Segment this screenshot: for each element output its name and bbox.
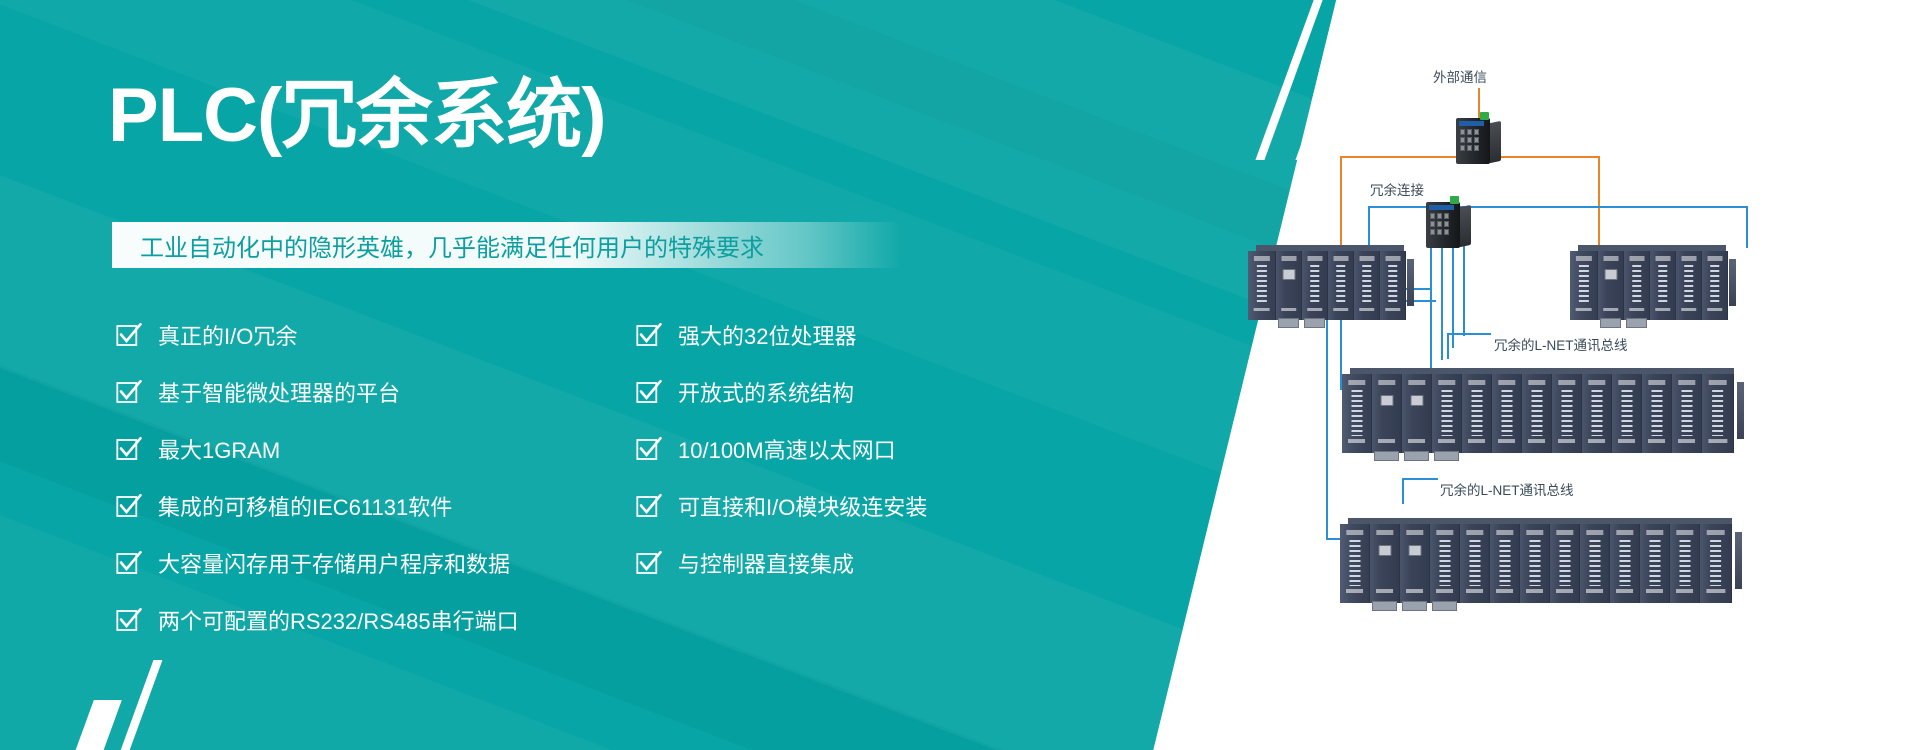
- module-logo: [1436, 530, 1453, 536]
- module-led-strip: [1591, 390, 1602, 436]
- checked-checkbox-icon: [636, 322, 662, 348]
- module-logo: [1281, 256, 1296, 261]
- module-led-strip: [1362, 265, 1372, 305]
- wire-external-left-down: [1340, 156, 1342, 256]
- module-led-strip: [1349, 540, 1360, 586]
- list-item-label: 两个可配置的RS232/RS485串行端口: [158, 604, 519, 636]
- list-item-label: 真正的I/O冗余: [158, 319, 297, 351]
- switch-port: [1467, 145, 1472, 151]
- list-item: 与控制器直接集成: [636, 540, 1136, 586]
- module-led-strip: [1621, 390, 1632, 436]
- plc-module-io: [1462, 374, 1492, 453]
- switch-port: [1467, 129, 1472, 135]
- module-label: [1681, 308, 1697, 311]
- module-logo: [1616, 530, 1633, 536]
- plc-module-io: [1522, 374, 1552, 453]
- switch-power-terminal: [1450, 196, 1459, 204]
- module-connector: [1372, 601, 1396, 611]
- wire-label-elbow-2h: [1402, 478, 1438, 480]
- subtitle-banner: 工业自动化中的隐形英雄，几乎能满足任何用户的特殊要求: [112, 222, 902, 268]
- module-rj45-port: [1282, 269, 1295, 280]
- module-logo: [1307, 256, 1322, 261]
- plc-module-cpu: [1400, 524, 1430, 603]
- checked-checkbox-icon: [636, 379, 662, 405]
- module-label: [1646, 589, 1664, 593]
- checked-checkbox-icon: [636, 493, 662, 519]
- module-logo: [1468, 380, 1485, 386]
- module-label: [1706, 589, 1725, 593]
- module-label: [1655, 308, 1671, 311]
- module-logo: [1681, 256, 1696, 261]
- module-logo: [1498, 380, 1515, 386]
- module-label: [1378, 439, 1396, 443]
- module-led-strip: [1388, 265, 1398, 305]
- module-logo: [1348, 380, 1365, 386]
- module-label: [1676, 589, 1694, 593]
- list-item-label: 集成的可移植的IEC61131软件: [158, 490, 452, 522]
- module-label: [1556, 589, 1574, 593]
- module-label: [1498, 439, 1516, 443]
- module-connector: [1600, 318, 1621, 328]
- plc-module-psu: [1248, 251, 1276, 320]
- plc-module-io: [1642, 374, 1672, 453]
- plc-module-io: [1676, 251, 1702, 320]
- list-item-label: 强大的32位处理器: [678, 319, 856, 351]
- module-label: [1586, 589, 1604, 593]
- plc-module-io: [1302, 251, 1328, 320]
- rack-end-cap: [1407, 259, 1414, 306]
- module-led-strip: [1441, 390, 1452, 436]
- module-label: [1678, 439, 1696, 443]
- wire-lnet-long-down: [1326, 300, 1328, 540]
- feature-column-left: 真正的I/O冗余 基于智能微处理器的平台 最大1GRAM 集成的可移植的IEC6…: [116, 312, 636, 654]
- list-item-label: 大容量闪存用于存储用户程序和数据: [158, 547, 510, 579]
- module-label: [1406, 589, 1424, 593]
- module-led-strip: [1351, 390, 1362, 436]
- rack-end-cap: [1735, 532, 1742, 589]
- module-connector: [1626, 318, 1647, 328]
- ethernet-switch-top: [1456, 112, 1502, 164]
- list-item: 强大的32位处理器: [636, 312, 1136, 358]
- plc-module-cpu: [1402, 374, 1432, 453]
- module-logo: [1346, 530, 1363, 536]
- rack-end-cap: [1729, 259, 1736, 306]
- plc-module-io: [1702, 251, 1728, 320]
- diagram-label-lnet-bus-2: 冗余的L-NET通讯总线: [1440, 479, 1574, 499]
- plc-module-io: [1492, 374, 1522, 453]
- switch-port: [1437, 221, 1442, 227]
- module-led-strip: [1529, 540, 1540, 586]
- module-label: [1436, 589, 1454, 593]
- module-logo: [1378, 380, 1395, 386]
- switch-port: [1430, 213, 1435, 219]
- module-logo: [1359, 256, 1374, 261]
- switch-port: [1460, 137, 1465, 143]
- module-led-strip: [1679, 540, 1690, 586]
- module-led-strip: [1578, 265, 1588, 305]
- wire-label-elbow-1v: [1447, 333, 1449, 359]
- module-led-strip: [1658, 265, 1668, 305]
- switch-display: [1459, 121, 1484, 126]
- module-logo: [1708, 380, 1727, 386]
- plc-rack-io-middle: [1342, 368, 1738, 453]
- module-label: [1333, 308, 1349, 311]
- list-item: 集成的可移植的IEC61131软件: [116, 483, 636, 529]
- module-led-strip: [1589, 540, 1600, 586]
- module-label: [1348, 439, 1366, 443]
- module-connector: [1434, 451, 1458, 461]
- module-label: [1618, 439, 1636, 443]
- module-logo: [1603, 256, 1618, 261]
- diagram-label-lnet-bus-1: 冗余的L-NET通讯总线: [1494, 334, 1628, 354]
- module-label: [1629, 308, 1645, 311]
- module-label: [1708, 439, 1727, 443]
- list-item-label: 基于智能微处理器的平台: [158, 376, 400, 408]
- module-label: [1496, 589, 1514, 593]
- module-label: [1575, 308, 1592, 311]
- module-connector: [1278, 318, 1299, 328]
- plc-module-cpu: [1276, 251, 1302, 320]
- list-item-label: 开放式的系统结构: [678, 376, 854, 408]
- module-label: [1707, 308, 1723, 311]
- switch-port: [1430, 221, 1435, 227]
- switch-port: [1460, 145, 1465, 151]
- module-label: [1648, 439, 1666, 443]
- plc-rack-secondary: [1570, 245, 1730, 320]
- module-label: [1385, 308, 1401, 311]
- diagram-label-redundant-link: 冗余连接: [1370, 179, 1424, 199]
- module-logo: [1438, 380, 1455, 386]
- wire-redundant-right: [1746, 206, 1748, 248]
- module-logo: [1253, 256, 1269, 261]
- switch-display: [1429, 205, 1454, 210]
- switch-port: [1444, 213, 1449, 219]
- hero-text-column: PLC(冗余系统) 工业自动化中的隐形英雄，几乎能满足任何用户的特殊要求 真正的…: [0, 0, 1180, 750]
- wire-lnet-drop-3: [1452, 240, 1454, 348]
- module-led-strip: [1439, 540, 1450, 586]
- feature-column-right: 强大的32位处理器 开放式的系统结构 10/100M高速以太网口 可直接和I/O…: [636, 312, 1136, 597]
- switch-port: [1467, 137, 1472, 143]
- switch-port: [1474, 145, 1479, 151]
- list-item: 最大1GRAM: [116, 426, 636, 472]
- list-item: 开放式的系统结构: [636, 369, 1136, 415]
- list-item-label: 10/100M高速以太网口: [678, 433, 896, 465]
- plc-module-io: [1610, 524, 1640, 603]
- module-logo: [1588, 380, 1605, 386]
- plc-module-io: [1432, 374, 1462, 453]
- switch-side: [1490, 121, 1501, 163]
- switch-port: [1430, 229, 1435, 235]
- plc-module-io: [1460, 524, 1490, 603]
- wire-lnet-drop-1: [1430, 240, 1432, 380]
- plc-module-psu: [1342, 374, 1372, 453]
- wire-lnet-drop-2: [1441, 240, 1443, 360]
- switch-port: [1437, 213, 1442, 219]
- module-label: [1558, 439, 1576, 443]
- module-label: [1528, 439, 1546, 443]
- plc-module-io: [1640, 524, 1670, 603]
- module-connector: [1304, 318, 1325, 328]
- switch-port-grid: [1430, 213, 1454, 237]
- module-logo: [1707, 256, 1722, 261]
- wire-external-right-down: [1598, 156, 1600, 246]
- module-label: [1307, 308, 1323, 311]
- module-label: [1438, 439, 1456, 443]
- module-led-strip: [1336, 265, 1346, 305]
- plc-module-io: [1520, 524, 1550, 603]
- plc-module-io: [1700, 524, 1732, 603]
- rack-end-cap: [1737, 382, 1744, 439]
- plc-module-io: [1550, 524, 1580, 603]
- page-title: PLC(冗余系统): [108, 78, 606, 154]
- module-led-strip: [1681, 390, 1692, 436]
- module-logo: [1376, 530, 1393, 536]
- ethernet-switch-middle: [1426, 196, 1472, 248]
- module-connector: [1402, 601, 1426, 611]
- module-connector: [1432, 601, 1456, 611]
- plc-module-io: [1354, 251, 1380, 320]
- module-logo: [1385, 256, 1400, 261]
- wire-label-elbow-2v: [1402, 478, 1404, 504]
- plc-module-psu: [1570, 251, 1598, 320]
- wire-label-elbow-1h: [1447, 333, 1491, 335]
- switch-port: [1474, 129, 1479, 135]
- list-item: 10/100M高速以太网口: [636, 426, 1136, 472]
- switch-port: [1474, 137, 1479, 143]
- checked-checkbox-icon: [116, 493, 142, 519]
- switch-port: [1444, 229, 1449, 235]
- plc-redundancy-diagram: 外部通信 冗余连接 冗余的L-NET通讯总线 冗余的L-NET通讯总线: [1100, 0, 1920, 750]
- module-connector: [1374, 451, 1398, 461]
- module-led-strip: [1531, 390, 1542, 436]
- module-logo: [1706, 530, 1725, 536]
- module-logo: [1496, 530, 1513, 536]
- module-led-strip: [1619, 540, 1630, 586]
- switch-side: [1460, 205, 1471, 247]
- plc-module-io: [1650, 251, 1676, 320]
- plc-module-io: [1612, 374, 1642, 453]
- plc-module-io: [1672, 374, 1702, 453]
- list-item-label: 最大1GRAM: [158, 433, 280, 465]
- module-rj45-port: [1378, 545, 1391, 556]
- module-logo: [1676, 530, 1693, 536]
- module-rj45-port: [1380, 395, 1393, 406]
- module-label: [1376, 589, 1394, 593]
- module-logo: [1406, 530, 1423, 536]
- list-item: 基于智能微处理器的平台: [116, 369, 636, 415]
- module-led-strip: [1651, 390, 1662, 436]
- list-item: 两个可配置的RS232/RS485串行端口: [116, 597, 636, 643]
- module-label: [1281, 308, 1297, 311]
- module-logo: [1646, 530, 1663, 536]
- list-item: 大容量闪存用于存储用户程序和数据: [116, 540, 636, 586]
- list-item: 可直接和I/O模块级连安装: [636, 483, 1136, 529]
- plc-module-io: [1328, 251, 1354, 320]
- module-logo: [1655, 256, 1670, 261]
- module-rj45-port: [1410, 395, 1423, 406]
- plc-rack-io-bottom: [1340, 518, 1736, 603]
- module-led-strip: [1256, 265, 1266, 305]
- checked-checkbox-icon: [636, 436, 662, 462]
- module-label: [1359, 308, 1375, 311]
- checked-checkbox-icon: [116, 607, 142, 633]
- checked-checkbox-icon: [116, 550, 142, 576]
- module-logo: [1648, 380, 1665, 386]
- plc-module-io: [1624, 251, 1650, 320]
- list-item-label: 与控制器直接集成: [678, 547, 854, 579]
- module-led-strip: [1471, 390, 1482, 436]
- module-led-strip: [1710, 540, 1722, 586]
- module-led-strip: [1499, 540, 1510, 586]
- wire-lnet-drop-4: [1463, 240, 1465, 336]
- checked-checkbox-icon: [116, 436, 142, 462]
- switch-port-grid: [1460, 129, 1484, 153]
- module-led-strip: [1559, 540, 1570, 586]
- checked-checkbox-icon: [636, 550, 662, 576]
- list-item: 真正的I/O冗余: [116, 312, 636, 358]
- module-led-strip: [1632, 265, 1642, 305]
- plc-module-io: [1490, 524, 1520, 603]
- module-label: [1466, 589, 1484, 593]
- module-led-strip: [1469, 540, 1480, 586]
- module-logo: [1575, 256, 1591, 261]
- switch-port: [1444, 221, 1449, 227]
- module-logo: [1556, 530, 1573, 536]
- plc-rack-primary: [1248, 245, 1408, 320]
- plc-module-io: [1670, 524, 1700, 603]
- list-item-label: 可直接和I/O模块级连安装: [678, 490, 927, 522]
- module-logo: [1586, 530, 1603, 536]
- plc-module-cpu: [1372, 374, 1402, 453]
- module-rj45-port: [1408, 545, 1421, 556]
- module-label: [1603, 308, 1619, 311]
- module-label: [1468, 439, 1486, 443]
- module-logo: [1333, 256, 1348, 261]
- switch-port: [1460, 129, 1465, 135]
- module-logo: [1526, 530, 1543, 536]
- module-logo: [1408, 380, 1425, 386]
- module-logo: [1678, 380, 1695, 386]
- plc-module-io: [1380, 251, 1406, 320]
- plc-module-io: [1552, 374, 1582, 453]
- module-led-strip: [1712, 390, 1724, 436]
- module-label: [1346, 589, 1364, 593]
- plc-module-io: [1580, 524, 1610, 603]
- module-logo: [1528, 380, 1545, 386]
- module-led-strip: [1649, 540, 1660, 586]
- plc-module-cpu: [1598, 251, 1624, 320]
- wire-redundant-top: [1368, 206, 1748, 208]
- diagram-label-external-comm: 外部通信: [1433, 66, 1487, 86]
- module-label: [1616, 589, 1634, 593]
- module-led-strip: [1684, 265, 1694, 305]
- module-logo: [1558, 380, 1575, 386]
- switch-port: [1437, 229, 1442, 235]
- module-logo: [1629, 256, 1644, 261]
- plc-module-io: [1702, 374, 1734, 453]
- module-rj45-port: [1604, 269, 1617, 280]
- plc-module-io: [1430, 524, 1460, 603]
- module-logo: [1618, 380, 1635, 386]
- module-label: [1526, 589, 1544, 593]
- checked-checkbox-icon: [116, 322, 142, 348]
- module-led-strip: [1561, 390, 1572, 436]
- subtitle-text: 工业自动化中的隐形英雄，几乎能满足任何用户的特殊要求: [112, 228, 764, 263]
- module-led-strip: [1310, 265, 1320, 305]
- module-connector: [1404, 451, 1428, 461]
- module-label: [1253, 308, 1270, 311]
- module-label: [1408, 439, 1426, 443]
- plc-module-psu: [1340, 524, 1370, 603]
- checked-checkbox-icon: [116, 379, 142, 405]
- plc-module-cpu: [1370, 524, 1400, 603]
- module-logo: [1466, 530, 1483, 536]
- module-led-strip: [1710, 265, 1720, 305]
- plc-module-io: [1582, 374, 1612, 453]
- switch-power-terminal: [1480, 112, 1489, 120]
- module-label: [1588, 439, 1606, 443]
- module-led-strip: [1501, 390, 1512, 436]
